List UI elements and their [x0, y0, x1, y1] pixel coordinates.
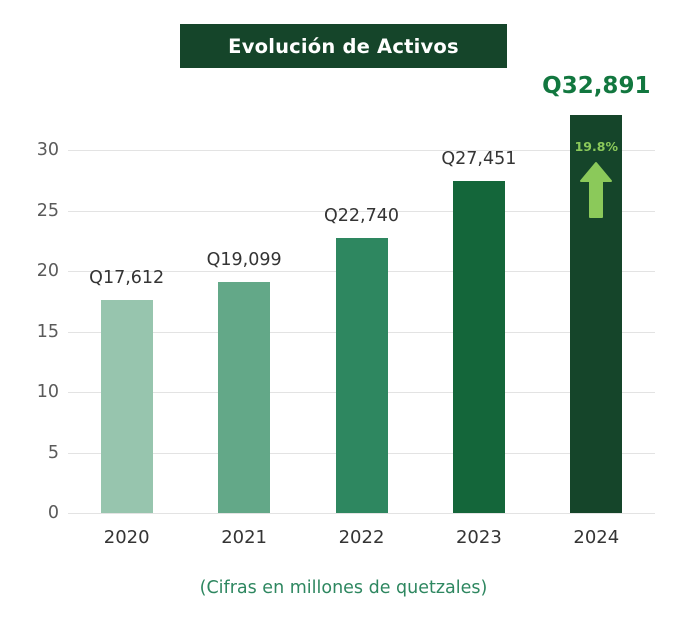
bar-value-label-2024: Q32,891 [542, 73, 650, 99]
bar-value-label-2022: Q22,740 [324, 206, 399, 226]
bar-2020[interactable] [101, 300, 153, 513]
footer-caption: (Cifras en millones de quetzales) [0, 578, 687, 598]
gridline [68, 513, 655, 514]
bar-value-label-2023: Q27,451 [441, 149, 516, 169]
y-axis-tick-label: 30 [37, 140, 59, 160]
bar-value-label-2021: Q19,099 [207, 250, 282, 270]
bar-2023[interactable] [453, 181, 505, 513]
chart-figure: Evolución de Activos 051015202530Q17,612… [0, 0, 687, 628]
y-axis-tick-label: 15 [37, 322, 59, 342]
x-axis-tick-label-2024: 2024 [573, 527, 619, 548]
chart-title: Evolución de Activos [228, 35, 459, 58]
x-axis-tick-label-2022: 2022 [339, 527, 385, 548]
x-axis-tick-label-2020: 2020 [104, 527, 150, 548]
y-axis-tick-label: 25 [37, 201, 59, 221]
chart-title-banner: Evolución de Activos [180, 24, 507, 68]
x-axis-tick-label-2023: 2023 [456, 527, 502, 548]
y-axis-tick-label: 5 [48, 443, 59, 463]
y-axis-tick-label: 20 [37, 261, 59, 281]
x-axis-tick-label-2021: 2021 [221, 527, 267, 548]
bar-2021[interactable] [218, 282, 270, 513]
y-axis-tick-label: 10 [37, 382, 59, 402]
bar-value-label-2020: Q17,612 [89, 268, 164, 288]
bar-2024[interactable] [570, 115, 622, 513]
bar-2022[interactable] [336, 238, 388, 513]
gridline [68, 150, 655, 151]
y-axis-tick-label: 0 [48, 503, 59, 523]
plot-area: 051015202530Q17,6122020Q19,0992021Q22,74… [68, 150, 655, 513]
